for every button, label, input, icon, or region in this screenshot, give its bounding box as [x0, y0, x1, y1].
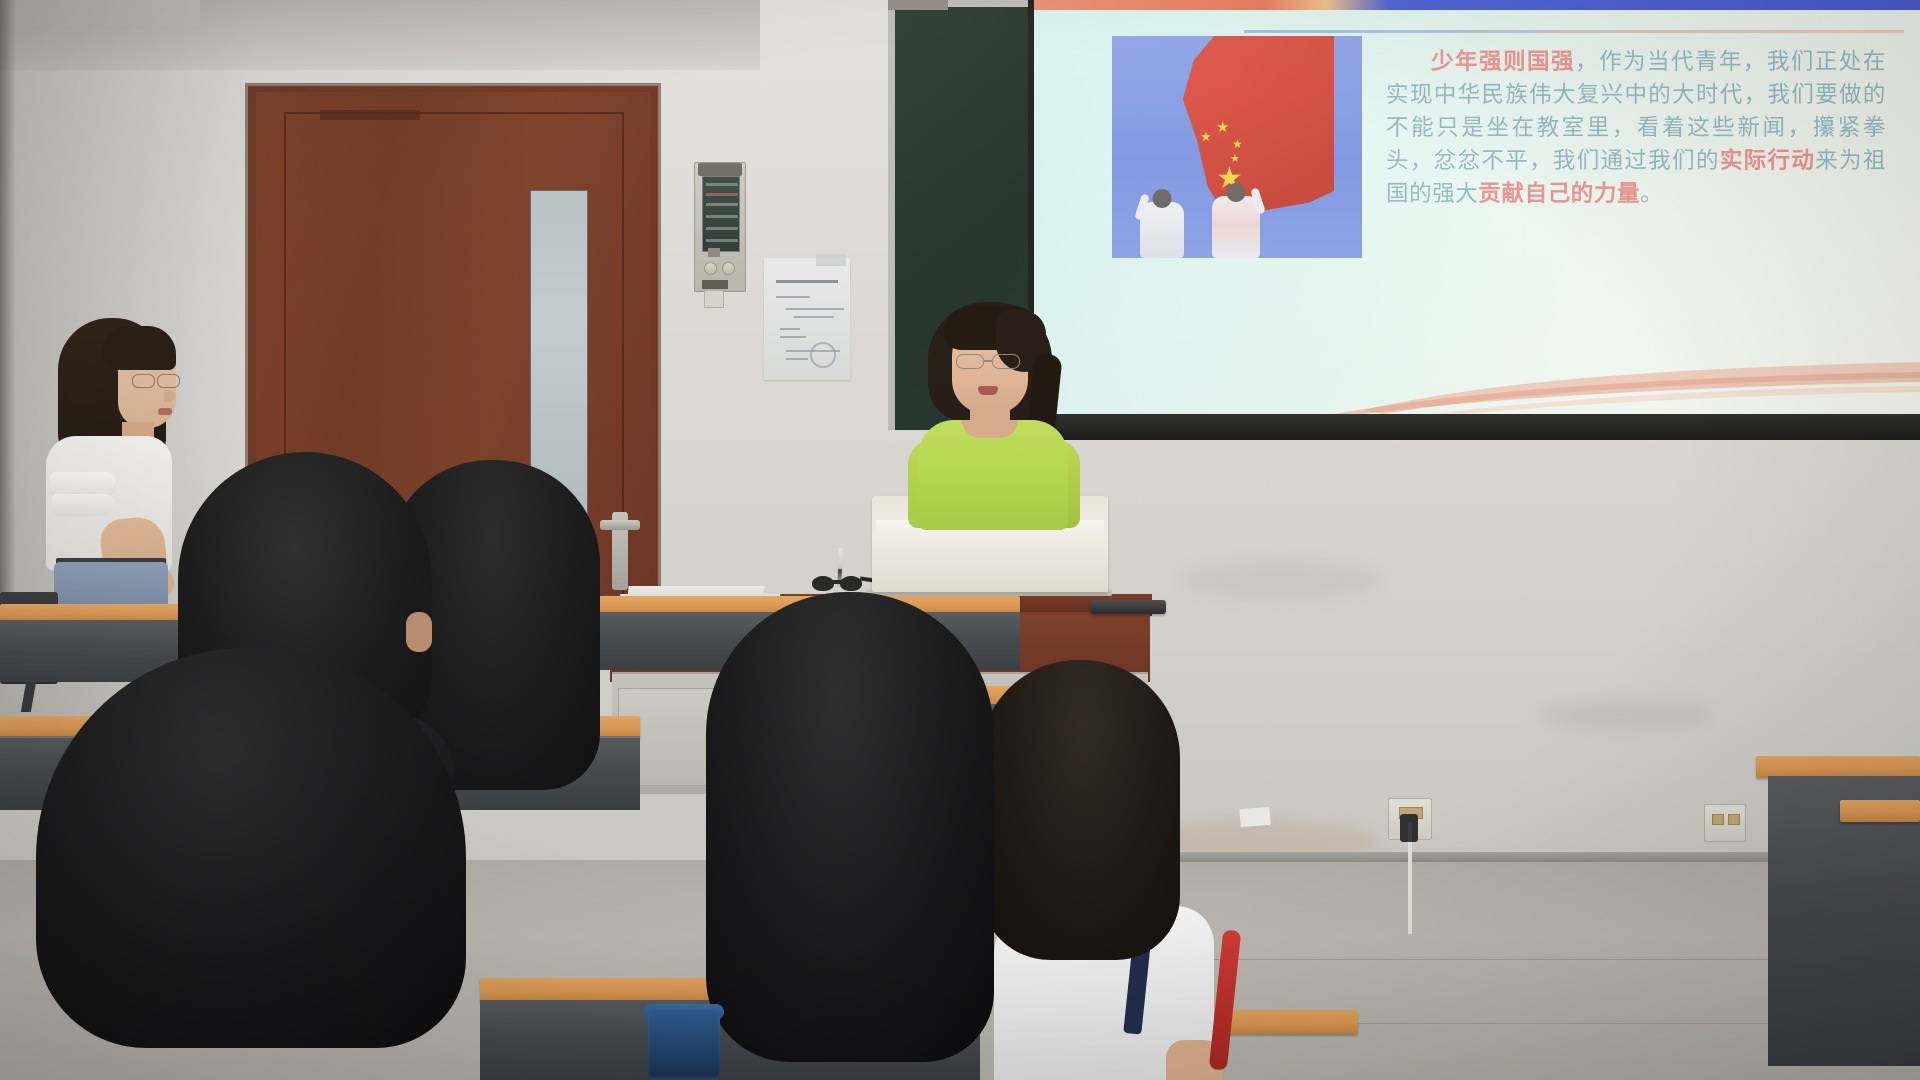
standing-woman-glasses [132, 374, 178, 389]
slide-text-segment: ，作为当代青年， [1575, 49, 1767, 75]
slide-footer-swoosh [1034, 352, 1920, 414]
presenter-glasses [956, 354, 1026, 370]
swoosh-svg [1034, 352, 1920, 414]
wall-small-sign [704, 290, 724, 308]
slide-text-segment: 只是坐在教室里，看着这些新闻， [1436, 115, 1812, 141]
left-wall-edge [0, 0, 16, 640]
previous-slide-strip [1034, 0, 1920, 10]
flag-star-small-1: ★ [1200, 130, 1212, 143]
control-panel-button-2[interactable] [722, 262, 735, 275]
door-handle[interactable] [600, 520, 640, 530]
student-foreground-left-hair [36, 648, 466, 1048]
slide-body-text: 少年强则国强，作为当代青年，我们正处在实现中华民族伟大复兴中的大时代，我们要做的… [1386, 46, 1886, 211]
standing-woman-sleeve-ruffle [50, 472, 116, 496]
outlet-cable [1408, 822, 1412, 934]
projection-screen-bottom-bar [1028, 414, 1920, 440]
slide-text-highlight: 贡献自己的力量 [1478, 181, 1640, 207]
classroom-scene: ★ ★ ★ ★ ★ 少年强则国强，作为当代青年，我们正处在实现中华民族伟大复兴中… [0, 0, 1920, 1080]
door-top-detail [320, 110, 420, 120]
standing-woman-lips [158, 408, 172, 415]
blue-thermos[interactable] [648, 1010, 720, 1080]
current-slide: ★ ★ ★ ★ ★ 少年强则国强，作为当代青年，我们正处在实现中华民族伟大复兴中… [1034, 10, 1920, 414]
slide-photo-flag: ★ ★ ★ ★ ★ [1112, 36, 1362, 258]
smartphone[interactable] [1090, 600, 1166, 614]
desk-far-right-1 [1756, 756, 1920, 778]
notice-heading-line [776, 280, 838, 283]
flag-bearer-left-head [1153, 189, 1172, 208]
network-outlet-slot-1 [1712, 814, 1724, 825]
flag-star-small-4: ★ [1230, 154, 1240, 165]
standing-woman-bangs [102, 326, 176, 370]
control-panel-label [702, 280, 728, 289]
slide-accent-rule [1244, 30, 1904, 33]
network-outlet-right[interactable] [1704, 804, 1746, 842]
flag-bearer-right-head [1227, 183, 1246, 202]
slide-text-highlight: 实际行动 [1720, 148, 1815, 174]
flag-star-small-3: ★ [1232, 138, 1243, 150]
control-panel-button-1[interactable] [704, 262, 717, 275]
student-foreground-center-hair [706, 592, 994, 1062]
wall-stain-3 [1540, 700, 1710, 730]
paper-notice-on-wall [764, 258, 850, 380]
student-front-left-ear [406, 612, 432, 652]
paper-on-desk [1239, 807, 1270, 827]
flag-bearer-left-arm [1134, 193, 1150, 220]
wall-stain-4 [1180, 560, 1380, 600]
student-foreground-center [706, 592, 994, 1080]
presenter-mouth [978, 386, 998, 395]
student-right-white-shirt [980, 660, 1220, 1080]
notice-stamp [810, 342, 836, 368]
student-right-hair [980, 660, 1180, 960]
standing-woman-sleeve-ruffle-2 [52, 494, 114, 516]
flag-bearer-right [1212, 196, 1260, 258]
network-outlet-slot-2 [1728, 814, 1740, 825]
flag-star-small-2: ★ [1216, 120, 1229, 135]
slide-text-highlight: 少年强则国强 [1431, 49, 1575, 75]
student-foreground-left [36, 648, 466, 1080]
blackboard-ledge [888, 0, 948, 10]
presenter-at-podium [900, 302, 1100, 602]
slide-text-segment: 我们的 [1648, 148, 1720, 174]
control-panel-top-cover [698, 163, 742, 176]
flag-bearer-left [1140, 202, 1184, 258]
desk-far-right-2 [1840, 800, 1920, 822]
slide-paragraph: 少年强则国强，作为当代青年，我们正处在实现中华民族伟大复兴中的大时代，我们要做的… [1386, 46, 1886, 211]
control-panel-slot [708, 248, 720, 257]
control-panel-display [702, 176, 740, 252]
slide-text-segment: 。 [1640, 181, 1663, 207]
notice-tape [816, 254, 846, 266]
projection-screen[interactable]: ★ ★ ★ ★ ★ 少年强则国强，作为当代青年，我们正处在实现中华民族伟大复兴中… [1034, 0, 1920, 414]
eyeglasses-on-podium[interactable] [812, 576, 864, 592]
